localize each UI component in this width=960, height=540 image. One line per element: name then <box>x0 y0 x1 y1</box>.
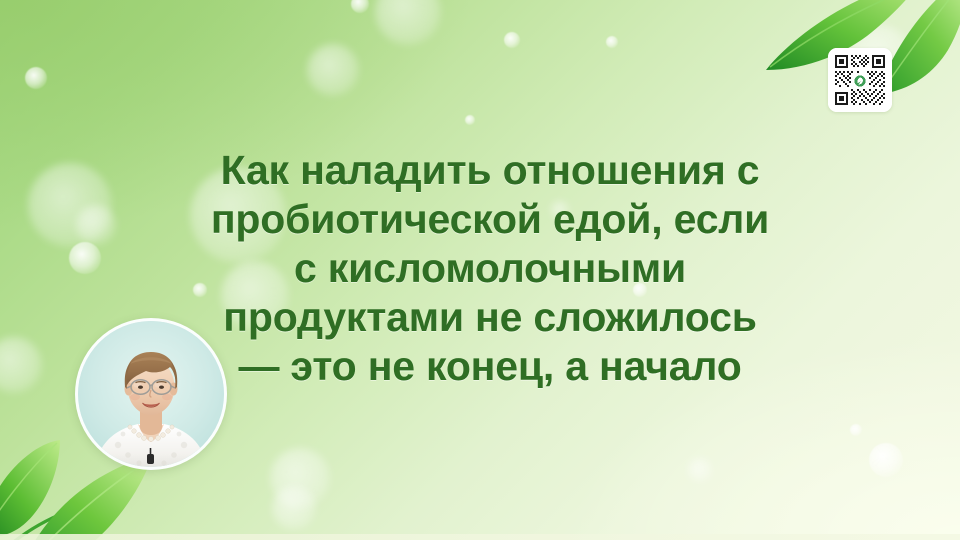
page-title: Как наладить отношения с пробиотической … <box>110 146 870 391</box>
slide-canvas: Как наладить отношения с пробиотической … <box>0 0 960 540</box>
headline-line-3: с кисломолочными <box>110 244 870 293</box>
headline-line-5: — это не конец, а начало <box>110 342 870 391</box>
headline-line-2: пробиотической едой, если <box>110 195 870 244</box>
bottom-edge-strip <box>0 534 960 540</box>
qr-code-icon[interactable] <box>828 48 892 112</box>
headline-line-4: продуктами не сложилось <box>110 293 870 342</box>
headline-line-1: Как наладить отношения с <box>110 146 870 195</box>
leaf-circle-logo-icon <box>853 74 867 88</box>
